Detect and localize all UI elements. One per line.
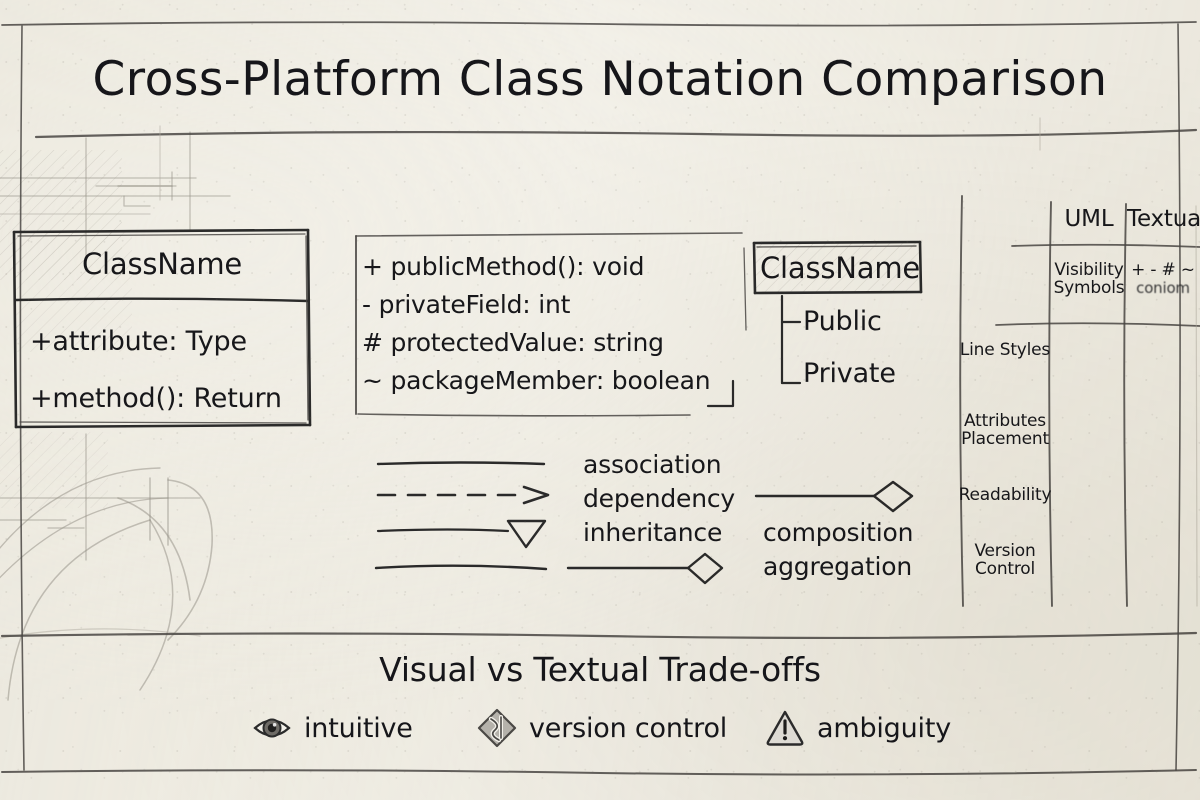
aggregation-diamond	[688, 554, 722, 583]
relationship-label-composition: composition	[763, 518, 913, 547]
uml-class-box: ClassName +attribute: Type +method(): Re…	[14, 231, 310, 426]
inheritance-triangle	[508, 521, 545, 547]
eye-icon	[252, 708, 292, 748]
branch-icon	[477, 708, 517, 748]
table-cell-visibility-textual: + - # ~ coniom	[1127, 261, 1199, 298]
footer-heading: Visual vs Textual Trade-offs	[0, 650, 1200, 689]
footer-chip-ambiguity: ambiguity	[765, 708, 951, 748]
table-row-label-attributes-placement: Attributes Placement	[950, 412, 1060, 449]
relationship-label-dependency: dependency	[583, 484, 735, 513]
table-cell-visibility-symbols: + - # ~	[1131, 260, 1195, 280]
table-cell-visibility-textual-sub: coniom	[1136, 279, 1190, 297]
class-box-method: +method(): Return	[30, 383, 282, 414]
table-hline-row1	[996, 323, 1200, 326]
footer-chip-label-ambiguity: ambiguity	[817, 713, 951, 744]
visibility-modifier-list: + publicMethod(): void - privateField: i…	[362, 248, 710, 400]
footer-chip-version-control: version control	[477, 708, 727, 748]
visibility-item-private: - privateField: int	[362, 286, 710, 324]
tree-root-label: ClassName	[760, 251, 920, 285]
inheritance-line	[378, 530, 508, 532]
class-box-attribute: +attribute: Type	[30, 326, 247, 357]
dependency-arrowhead	[524, 487, 548, 503]
title-underline	[36, 130, 1196, 137]
table-column-header-uml: UML	[1052, 207, 1126, 232]
frame-bottom-line	[2, 770, 1196, 774]
tree-child-private: Private	[803, 358, 896, 389]
association-line	[378, 463, 544, 465]
table-hline-header	[1012, 245, 1200, 247]
footer-chip-label-version-control: version control	[529, 713, 727, 744]
warning-icon	[765, 708, 805, 748]
visibility-item-public: + publicMethod(): void	[362, 248, 710, 286]
class-box-name: ClassName	[14, 247, 310, 281]
sketch-canvas: Cross-Platform Class Notation Comparison…	[0, 0, 1200, 800]
composition-diamond	[874, 482, 912, 511]
visibility-item-protected: # protectedValue: string	[362, 324, 710, 362]
page-title: Cross-Platform Class Notation Comparison	[0, 52, 1200, 107]
footer-chip-label-intuitive: intuitive	[304, 713, 413, 744]
footer-divider-line	[2, 633, 1196, 638]
table-row-label-line-styles: Line Styles	[955, 341, 1055, 359]
table-cell-visibility-uml: Visibility Symbols	[1052, 261, 1126, 298]
frame-top-line	[2, 22, 1196, 26]
table-column-header-textual: Textual	[1127, 207, 1200, 232]
tree-child-public: Public	[803, 306, 882, 337]
footer-chip-intuitive: intuitive	[252, 708, 413, 748]
relationship-label-inheritance: inheritance	[583, 518, 722, 547]
relationship-label-association: association	[583, 450, 721, 479]
table-row-label-readability: Readability	[952, 486, 1058, 504]
aggregation-left-line	[376, 566, 546, 569]
table-row-label-version-control: Version Control	[955, 542, 1055, 579]
relationship-label-aggregation: aggregation	[763, 552, 912, 581]
visibility-item-package: ~ packageMember: boolean	[362, 362, 710, 400]
